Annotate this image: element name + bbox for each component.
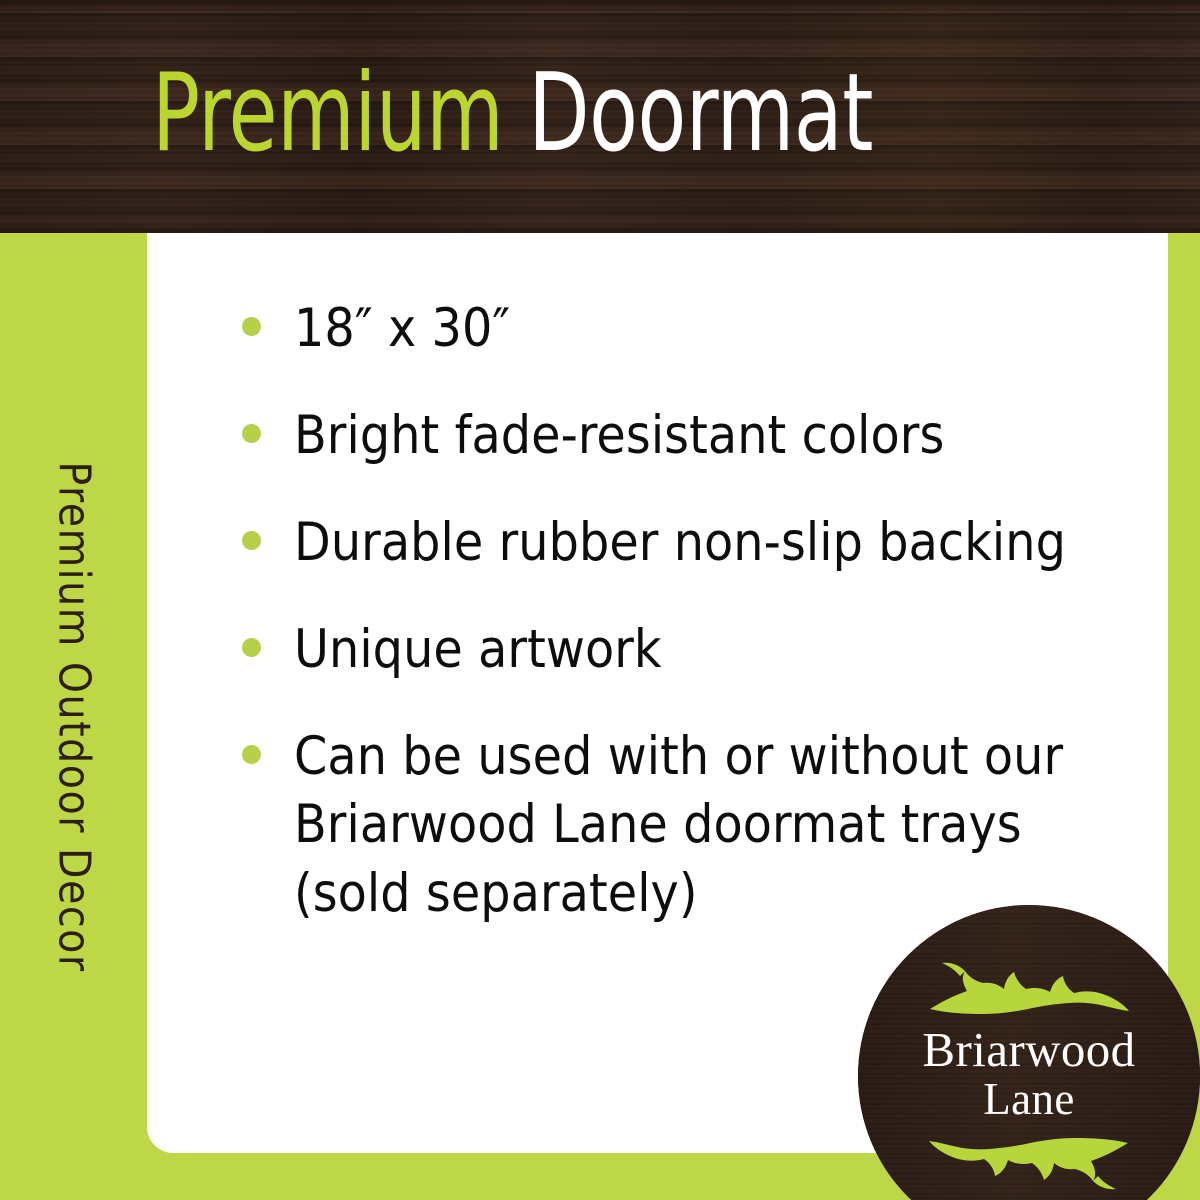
sidebar-vertical-label: Premium Outdoor Decor (48, 461, 99, 972)
feature-list: 18″ x 30″ Bright fade-resistant colors D… (232, 295, 1137, 929)
bullet-dot-icon (242, 317, 261, 336)
sidebar-banner: Premium Outdoor Decor (0, 233, 147, 1200)
list-item: 18″ x 30″ (232, 295, 1137, 364)
feature-text-line: 18″ x 30″ (294, 295, 1137, 364)
bullet-dot-icon (242, 745, 261, 764)
feature-text-line: Bright fade-resistant colors (294, 402, 1137, 471)
title-rest-word: Doormat (503, 51, 873, 176)
wood-bottom-shadow (0, 219, 1200, 233)
oak-leaf-branch-icon (925, 957, 1133, 1019)
list-item: Bright fade-resistant colors (232, 402, 1137, 471)
feature-text-line: Unique artwork (294, 616, 1137, 685)
feature-text-line: Durable rubber non-slip backing (294, 509, 1137, 578)
bullet-dot-icon (242, 638, 261, 657)
list-item: Unique artwork (232, 616, 1137, 685)
feature-text-line: Briarwood Lane doormat trays (294, 791, 1137, 860)
page-title: Premium Doormat (152, 57, 873, 170)
bullet-dot-icon (242, 424, 261, 443)
list-item: Can be used with or without our Briarwoo… (232, 723, 1137, 930)
title-highlight-word: Premium (152, 51, 503, 176)
product-info-card: Premium Doormat Premium Outdoor Decor 18… (0, 0, 1200, 1200)
brand-name-text: Briarwood (922, 1025, 1135, 1074)
logo-content: Briarwood Lane (858, 905, 1200, 1200)
header-banner: Premium Doormat (0, 0, 1200, 233)
brand-logo-badge: Briarwood Lane (858, 905, 1200, 1200)
bullet-dot-icon (242, 531, 261, 550)
oak-leaf-branch-icon (925, 1133, 1133, 1195)
list-item: Durable rubber non-slip backing (232, 509, 1137, 578)
brand-sub-text: Lane (983, 1074, 1075, 1124)
feature-text-line: Can be used with or without our (294, 723, 1137, 792)
wood-top-shadow (0, 0, 1200, 12)
